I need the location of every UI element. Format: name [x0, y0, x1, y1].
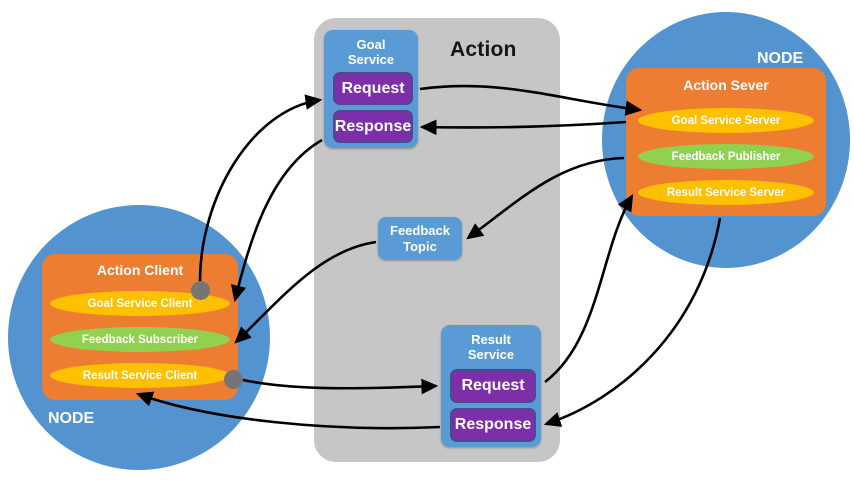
diagram-canvas: Action Goal Service Request Response Fee…	[0, 0, 854, 480]
goal-service-box: Goal Service Request Response	[324, 30, 418, 148]
result-service-response[interactable]: Response	[450, 408, 536, 442]
action-server-box: Action Sever Goal Service Server Feedbac…	[626, 68, 826, 216]
result-service-title-line2: Service	[441, 347, 541, 362]
result-service-client-ellipse[interactable]: Result Service Client	[50, 363, 230, 388]
action-client-title: Action Client	[42, 262, 238, 278]
goal-service-request[interactable]: Request	[333, 72, 413, 105]
action-panel-title: Action	[450, 38, 517, 62]
feedback-topic-line1: Feedback	[390, 223, 450, 239]
feedback-topic-box[interactable]: Feedback Topic	[378, 217, 462, 260]
result-service-title-line1: Result	[441, 332, 541, 347]
feedback-topic-line2: Topic	[403, 239, 437, 255]
action-server-title: Action Sever	[626, 77, 826, 93]
feedback-subscriber-ellipse[interactable]: Feedback Subscriber	[50, 327, 230, 352]
server-node-label: NODE	[757, 50, 803, 68]
result-connector-dot	[224, 370, 243, 389]
client-node-label: NODE	[48, 410, 94, 428]
goal-service-title-line1: Goal	[324, 37, 418, 52]
result-service-request[interactable]: Request	[450, 369, 536, 403]
goal-service-response[interactable]: Response	[333, 110, 413, 143]
goal-service-title-line2: Service	[324, 52, 418, 67]
result-service-box: Result Service Request Response	[441, 325, 541, 447]
goal-connector-dot	[191, 281, 210, 300]
goal-service-server-ellipse[interactable]: Goal Service Server	[638, 108, 814, 133]
result-service-server-ellipse[interactable]: Result Service Server	[638, 180, 814, 205]
action-client-box: Action Client Goal Service Client Feedba…	[42, 254, 238, 400]
feedback-publisher-ellipse[interactable]: Feedback Publisher	[638, 144, 814, 169]
